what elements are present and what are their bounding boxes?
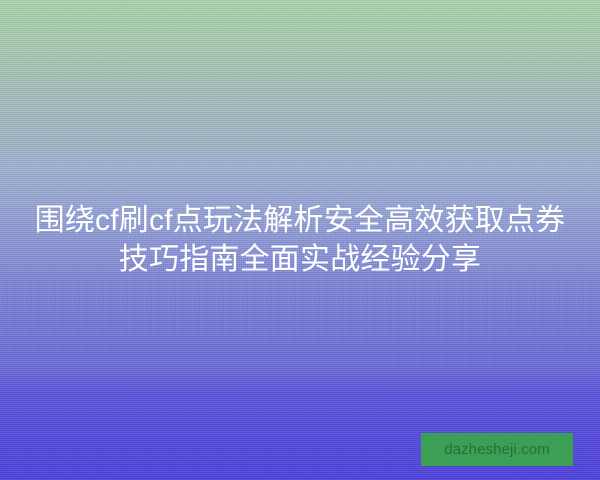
page-title-line-2: 技巧指南全面实战经验分享 xyxy=(14,240,586,279)
page-title-line-1: 围绕cf刷cf点玩法解析安全高效获取点券 xyxy=(14,201,586,240)
page-title: 围绕cf刷cf点玩法解析安全高效获取点券 技巧指南全面实战经验分享 xyxy=(0,201,600,279)
watermark-site-label: dazhesheji.com xyxy=(444,442,550,457)
watermark-badge: dazhesheji.com xyxy=(421,433,573,466)
cover-card: 围绕cf刷cf点玩法解析安全高效获取点券 技巧指南全面实战经验分享 dazhes… xyxy=(0,0,600,480)
